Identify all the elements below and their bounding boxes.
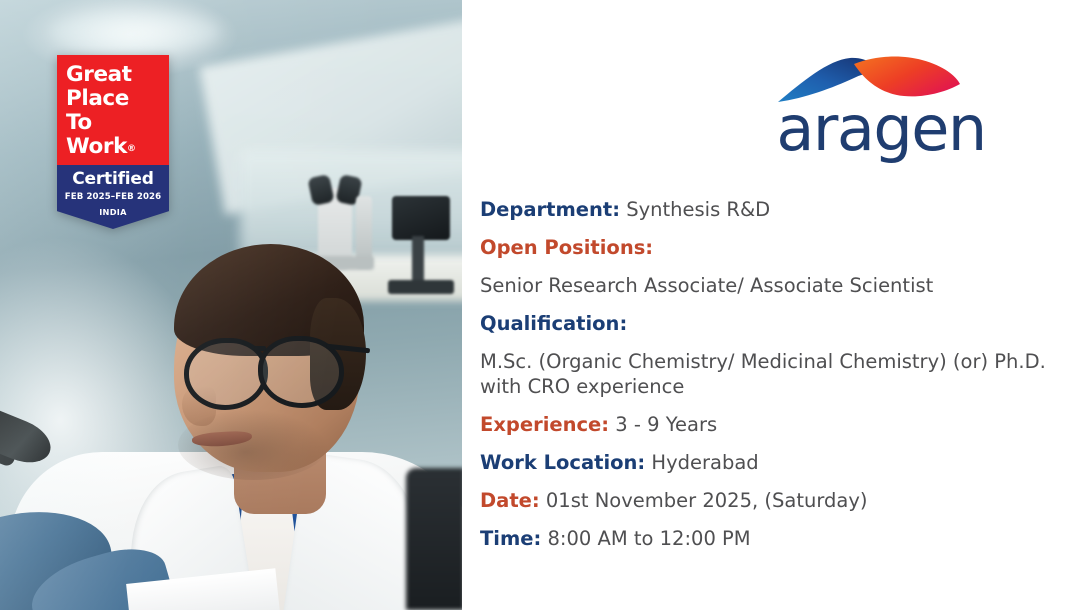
great-place-to-work-badge: Great Place To Work® Certified FEB 2025–…: [57, 55, 169, 229]
detail-department: Department: Synthesis R&D: [480, 198, 1060, 223]
detail-experience-label: Experience:: [480, 413, 609, 436]
lab-chair: [406, 468, 462, 610]
badge-country-label: INDIA: [57, 207, 169, 217]
detail-qualification-text: M.Sc. (Organic Chemistry/ Medicinal Chem…: [480, 350, 1046, 398]
badge-line-4: Work: [66, 134, 127, 159]
detail-time-label: Time:: [480, 527, 541, 550]
badge-certified-label: Certified: [57, 169, 169, 189]
badge-line-1: Great: [66, 63, 164, 87]
aragen-logo: aragen: [748, 52, 1014, 170]
detail-open-positions: Open Positions:: [480, 236, 1060, 261]
badge-validity-dates: FEB 2025–FEB 2026: [57, 192, 169, 202]
aragen-wordmark: aragen: [748, 98, 1014, 160]
registered-trademark-icon: ®: [127, 144, 136, 154]
detail-date: Date: 01st November 2025, (Saturday): [480, 489, 1060, 514]
job-details-panel: aragen Department: Synthesis R&D Open Po…: [462, 0, 1080, 610]
eyeglasses-bridge: [254, 346, 266, 351]
laboratory-photo: Great Place To Work® Certified FEB 2025–…: [0, 0, 462, 610]
detail-department-value: Synthesis R&D: [620, 198, 770, 221]
detail-date-label: Date:: [480, 489, 540, 512]
detail-experience-value: 3 - 9 Years: [609, 413, 717, 436]
detail-qualification: Qualification:: [480, 312, 1060, 337]
lab-equipment-dark: [392, 196, 450, 240]
detail-work-location-label: Work Location:: [480, 451, 645, 474]
badge-headline: Great Place To Work®: [66, 63, 164, 161]
detail-date-value: 01st November 2025, (Saturday): [540, 489, 868, 512]
ceiling-light: [50, 10, 220, 54]
badge-line-4-wrap: Work®: [66, 135, 164, 161]
detail-open-positions-text: Senior Research Associate/ Associate Sci…: [480, 274, 933, 297]
badge-line-2: Place: [66, 87, 164, 111]
detail-department-label: Department:: [480, 198, 620, 221]
detail-qualification-label: Qualification:: [480, 312, 627, 335]
detail-work-location: Work Location: Hyderabad: [480, 451, 1060, 476]
detail-qualification-value: M.Sc. (Organic Chemistry/ Medicinal Chem…: [480, 350, 1060, 400]
recruitment-banner: Great Place To Work® Certified FEB 2025–…: [0, 0, 1080, 610]
detail-open-positions-value: Senior Research Associate/ Associate Sci…: [480, 274, 1060, 299]
job-details-list: Department: Synthesis R&D Open Positions…: [480, 198, 1060, 552]
detail-experience: Experience: 3 - 9 Years: [480, 413, 1060, 438]
detail-time-value: 8:00 AM to 12:00 PM: [541, 527, 750, 550]
detail-open-positions-label: Open Positions:: [480, 236, 653, 259]
badge-line-3: To: [66, 111, 164, 135]
detail-time: Time: 8:00 AM to 12:00 PM: [480, 527, 1060, 552]
detail-work-location-value: Hyderabad: [645, 451, 758, 474]
